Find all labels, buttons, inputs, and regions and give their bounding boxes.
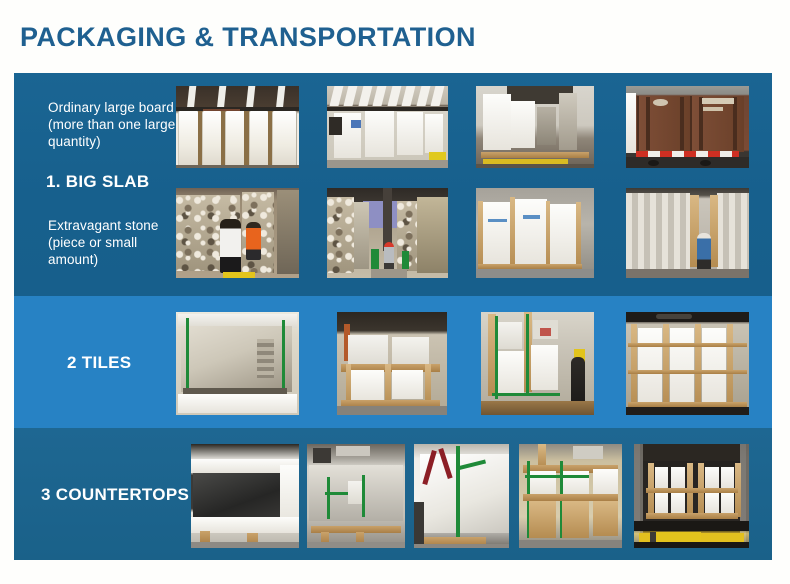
photo-slabs-loaded-in-container xyxy=(476,86,594,168)
section-tiles: 2 TILES xyxy=(14,296,772,428)
photo-container-full-of-crates xyxy=(626,312,749,415)
tiles-label-column: 2 TILES xyxy=(14,296,190,428)
tiles-heading: 2 TILES xyxy=(67,353,131,373)
countertops-heading: 3 COUNTERTOPS xyxy=(41,485,189,505)
big-slab-heading: 1. BIG SLAB xyxy=(46,172,149,192)
section-countertops: 3 COUNTERTOPS xyxy=(14,428,772,560)
photo-grey-countertops-bundled xyxy=(307,444,405,548)
extravagant-stone-description: Extravagant stone (piece or small amount… xyxy=(48,217,186,268)
photo-crated-countertops-pallets xyxy=(519,444,622,548)
photo-black-countertop-crate xyxy=(191,444,299,548)
photo-brown-shipping-container xyxy=(626,86,749,168)
page-title: PACKAGING & TRANSPORTATION xyxy=(20,22,476,53)
photo-crated-slabs-yard xyxy=(476,188,594,278)
photo-slab-storage-alley xyxy=(327,188,448,278)
photo-warehouse-white-slabs xyxy=(176,86,299,168)
photo-countertops-in-container xyxy=(634,444,749,548)
photo-wooden-crate-pallet xyxy=(337,312,447,415)
ordinary-large-board-description: Ordinary large board (more than one larg… xyxy=(48,99,186,150)
photo-strapped-tile-bundle xyxy=(176,312,299,415)
section-big-slab: Ordinary large board (more than one larg… xyxy=(14,73,772,296)
photo-wrapped-countertop-bundle xyxy=(414,444,509,548)
photo-warehouse-roof-slabs xyxy=(327,86,448,168)
photo-workers-inspecting-granite xyxy=(176,188,299,278)
slide-canvas: PACKAGING & TRANSPORTATION Ordinary larg… xyxy=(0,0,790,584)
countertops-label-column: 3 COUNTERTOPS xyxy=(14,428,190,560)
photo-container-loading-crates xyxy=(626,188,749,278)
big-slab-label-column: Ordinary large board (more than one larg… xyxy=(14,73,190,296)
photo-crate-entering-container xyxy=(481,312,594,415)
